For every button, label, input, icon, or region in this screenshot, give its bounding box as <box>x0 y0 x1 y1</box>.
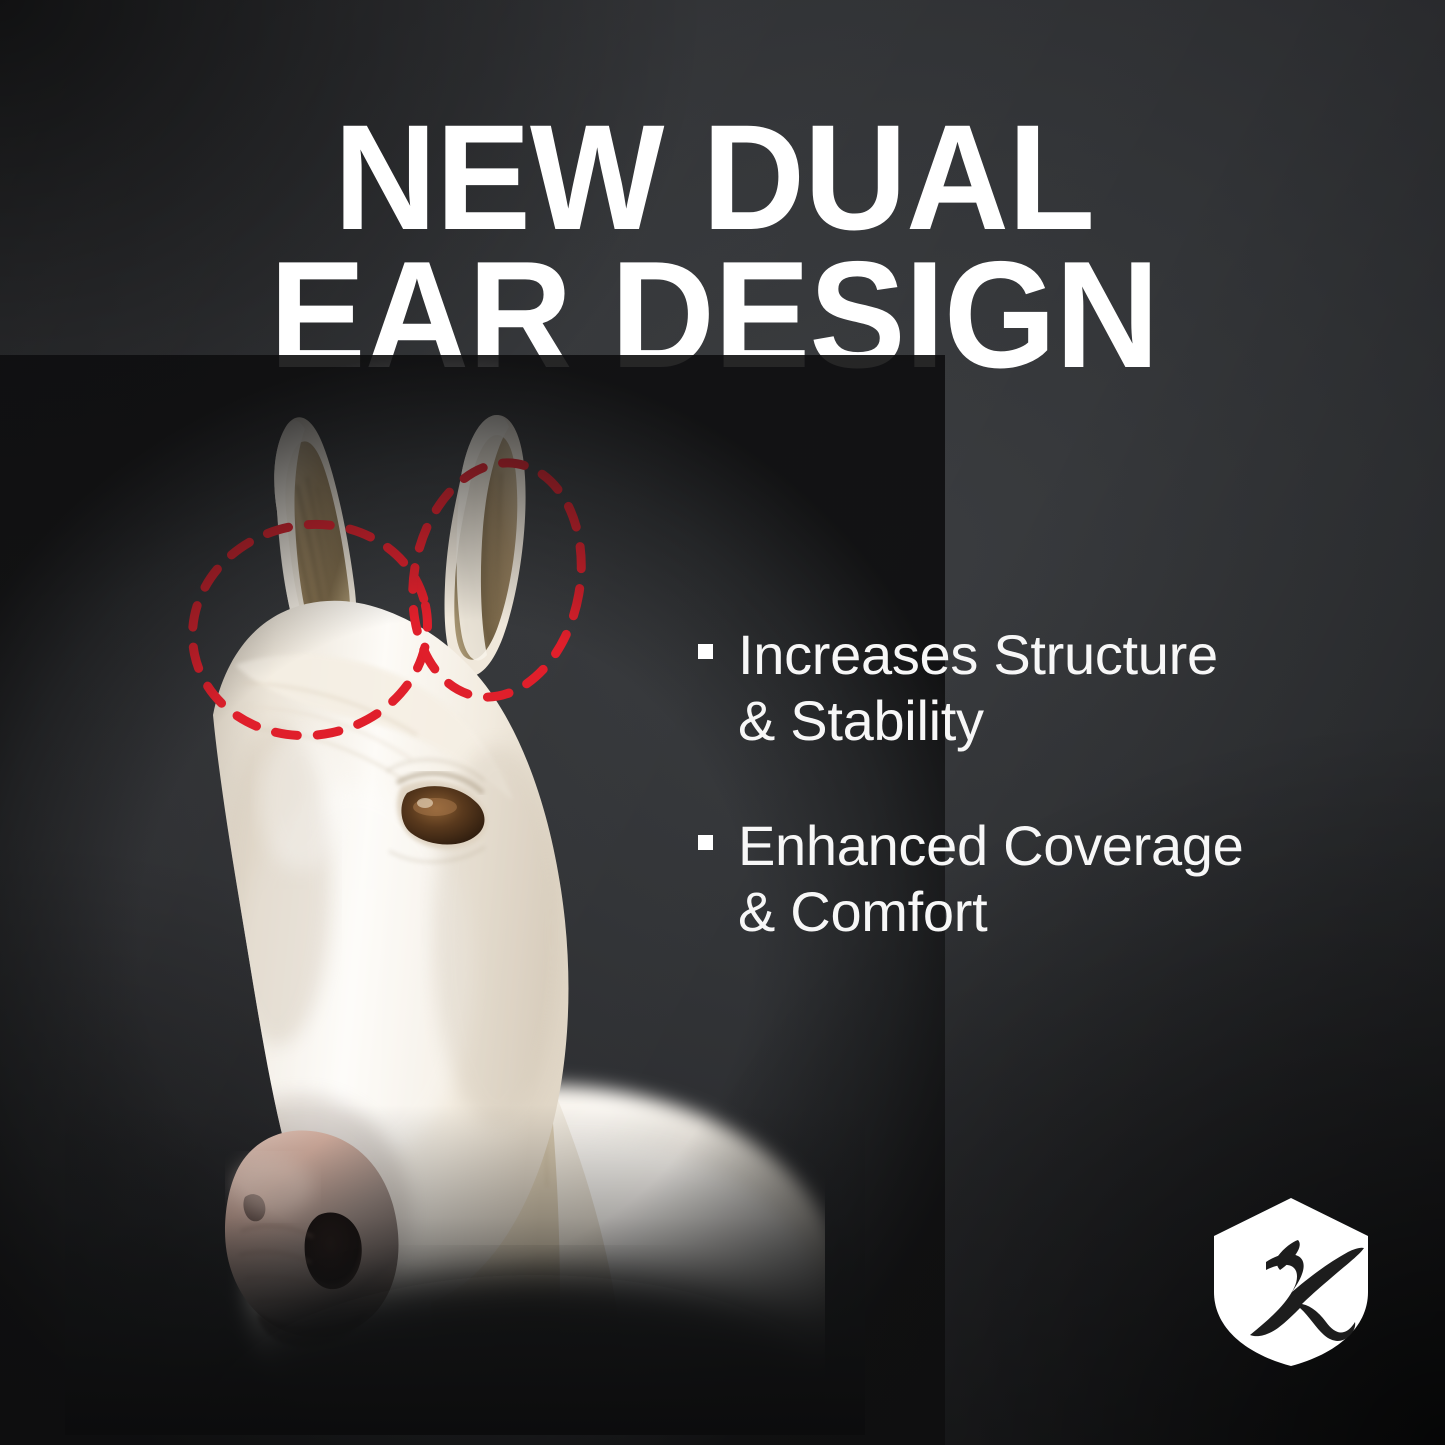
brand-logo <box>1208 1196 1374 1368</box>
list-item-line-1: Enhanced Coverage <box>738 813 1388 879</box>
bullet-square-icon <box>698 835 713 850</box>
shield-k-icon <box>1208 1196 1374 1368</box>
page-title: NEW DUAL EAR DESIGN <box>258 108 1170 386</box>
list-item-line-1: Increases Structure <box>738 622 1388 688</box>
bullet-square-icon <box>698 644 713 659</box>
list-item: Enhanced Coverage & Comfort <box>698 813 1388 944</box>
list-item-line-2: & Stability <box>738 688 1388 754</box>
headline-line-2: EAR DESIGN <box>258 246 1170 386</box>
headline-line-1: NEW DUAL <box>258 108 1170 246</box>
feature-list: Increases Structure & Stability Enhanced… <box>698 622 1388 944</box>
promo-image-canvas: NEW DUAL EAR DESIGN <box>0 0 1445 1445</box>
list-item: Increases Structure & Stability <box>698 622 1388 753</box>
list-item-line-2: & Comfort <box>738 879 1388 945</box>
